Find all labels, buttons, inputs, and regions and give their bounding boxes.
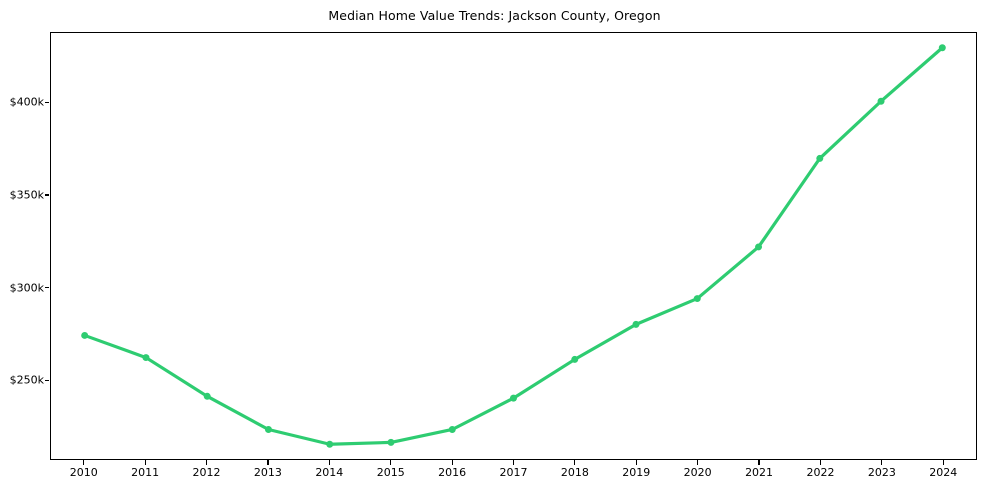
- y-tick-mark: [45, 380, 50, 381]
- y-tick-label: $250k: [10, 374, 44, 387]
- x-tick-mark: [943, 460, 944, 465]
- x-tick-mark: [390, 460, 391, 465]
- x-tick-mark: [452, 460, 453, 465]
- chart-figure: Median Home Value Trends: Jackson County…: [0, 0, 989, 490]
- plot-area: [50, 32, 977, 460]
- x-tick-mark: [267, 460, 268, 465]
- data-point-marker: [142, 354, 149, 361]
- y-tick-label: $350k: [10, 189, 44, 202]
- x-tick-label: 2020: [684, 466, 712, 479]
- data-point-marker: [326, 441, 333, 448]
- data-point-marker: [81, 332, 88, 339]
- data-point-marker: [816, 155, 823, 162]
- y-tick-label: $400k: [10, 96, 44, 109]
- x-tick-mark: [145, 460, 146, 465]
- data-point-marker: [939, 44, 946, 51]
- x-tick-label: 2022: [806, 466, 834, 479]
- x-tick-label: 2013: [254, 466, 282, 479]
- x-tick-mark: [820, 460, 821, 465]
- data-point-marker: [204, 393, 211, 400]
- x-tick-label: 2023: [868, 466, 896, 479]
- data-point-marker: [265, 426, 272, 433]
- x-tick-mark: [206, 460, 207, 465]
- x-tick-label: 2011: [131, 466, 159, 479]
- y-tick-mark: [45, 194, 50, 195]
- x-tick-label: 2018: [561, 466, 589, 479]
- y-tick-label: $300k: [10, 281, 44, 294]
- x-tick-mark: [697, 460, 698, 465]
- series-line: [85, 48, 943, 444]
- data-point-marker: [571, 356, 578, 363]
- data-point-marker: [755, 243, 762, 250]
- plot-inner: [51, 33, 976, 459]
- x-tick-mark: [758, 460, 759, 465]
- x-tick-mark: [636, 460, 637, 465]
- x-tick-mark: [513, 460, 514, 465]
- x-tick-mark: [574, 460, 575, 465]
- x-tick-label: 2015: [377, 466, 405, 479]
- data-point-marker: [878, 98, 885, 105]
- x-tick-mark: [329, 460, 330, 465]
- data-point-marker: [510, 395, 517, 402]
- y-axis-labels: $250k$300k$350k$400k: [0, 0, 44, 490]
- x-tick-mark: [83, 460, 84, 465]
- x-tick-label: 2024: [929, 466, 957, 479]
- y-tick-mark: [45, 287, 50, 288]
- x-tick-label: 2017: [500, 466, 528, 479]
- x-axis-labels: 2010201120122013201420152016201720182019…: [0, 460, 989, 490]
- x-tick-label: 2010: [70, 466, 98, 479]
- x-tick-mark: [881, 460, 882, 465]
- data-point-marker: [694, 295, 701, 302]
- y-tick-mark: [45, 102, 50, 103]
- data-point-marker: [387, 439, 394, 446]
- data-point-marker: [449, 426, 456, 433]
- x-tick-label: 2016: [438, 466, 466, 479]
- x-tick-label: 2012: [193, 466, 221, 479]
- line-series-svg: [51, 33, 976, 459]
- x-tick-label: 2014: [315, 466, 343, 479]
- chart-title: Median Home Value Trends: Jackson County…: [0, 8, 989, 23]
- x-tick-label: 2021: [745, 466, 773, 479]
- x-tick-label: 2019: [622, 466, 650, 479]
- data-point-marker: [633, 321, 640, 328]
